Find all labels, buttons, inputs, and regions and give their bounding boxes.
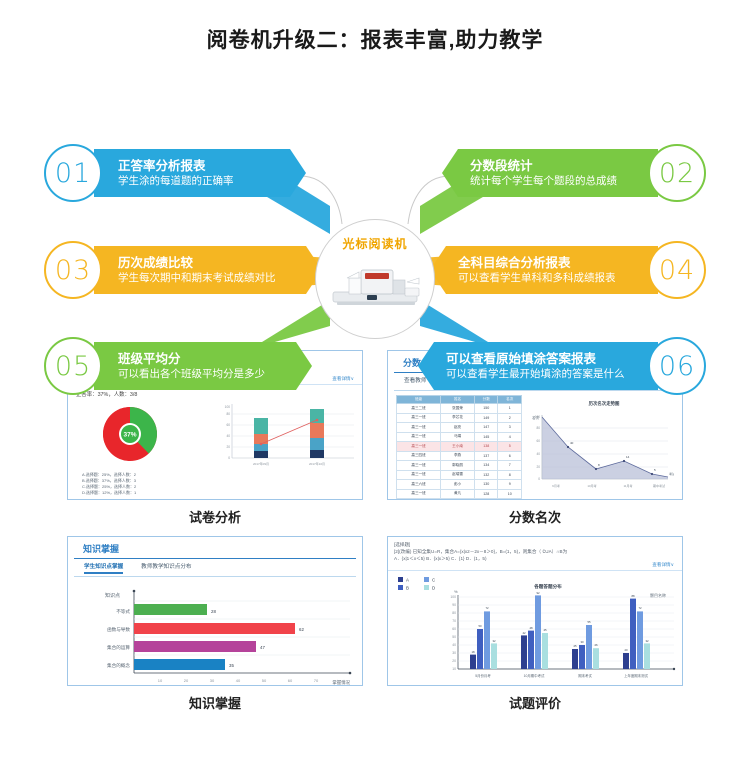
feature-number-02: 02 bbox=[648, 144, 706, 202]
feature-title-04: 全科目综合分析报表 bbox=[458, 256, 632, 271]
feature-title-06: 可以查看原始填涂答案报表 bbox=[446, 352, 632, 367]
svg-text:5: 5 bbox=[654, 468, 656, 472]
option-stat-d: D.选择题：12%，选择人数：1 bbox=[82, 490, 222, 496]
svg-text:50: 50 bbox=[262, 678, 267, 683]
item-eval-ylabel: % bbox=[454, 589, 458, 594]
option-stats-list: A.选择题：25%，选择人数：2 B.选择题：37%，选择人数：3 C.选择题：… bbox=[68, 470, 353, 496]
svg-text:30: 30 bbox=[452, 651, 456, 655]
svg-text:60: 60 bbox=[288, 678, 293, 683]
svg-text:2017年10月: 2017年10月 bbox=[309, 461, 325, 466]
svg-text:42: 42 bbox=[522, 631, 526, 635]
svg-text:48: 48 bbox=[529, 626, 533, 630]
table-row: 高三一班赵瑞雪1328 bbox=[397, 470, 522, 480]
item-eval-frame[interactable]: [选择题] [2](改编) 已知全集U=R，集合A={x|x2－2x－8＞0}，… bbox=[387, 536, 683, 686]
svg-text:50: 50 bbox=[452, 635, 456, 639]
table-row: 高三二班张国荣1501 bbox=[397, 404, 522, 414]
table-row: 高三一班郭晓丽1347 bbox=[397, 461, 522, 471]
svg-text:A: A bbox=[406, 578, 409, 583]
caption-paper-analysis: 试卷分析 bbox=[67, 500, 363, 526]
caption-knowledge: 知识掌握 bbox=[67, 686, 363, 712]
svg-text:上年度期末测试: 上年度期末测试 bbox=[624, 673, 648, 678]
scanner-machine-icon bbox=[327, 258, 423, 315]
feature-title-03: 历次成绩比较 bbox=[118, 256, 296, 271]
tab-view-teacher[interactable]: 查看教师 bbox=[404, 376, 426, 388]
item-eval-bar-chart: A C B D 各题答题分布 题目名称 % bbox=[388, 571, 683, 686]
question-line-1-b: [2](改编) 已知全集U=R，集合A={x|x2－2x－8＞0}，B=(1，5… bbox=[394, 548, 676, 555]
svg-text:50: 50 bbox=[478, 624, 482, 628]
feature-banner-03: 历次成绩比较 学生每次期中和期末考试成绩对比 bbox=[94, 246, 322, 294]
feature-banner-01: 正答率分析报表 学生涂的每道题的正确率 bbox=[94, 149, 306, 197]
svg-text:10: 10 bbox=[452, 667, 456, 671]
feature-title-05: 班级平均分 bbox=[118, 352, 286, 367]
rank-trend-chart: 历次名次走势图 名次 0 20 40 bbox=[526, 395, 674, 499]
paper-analysis-charts: 37% 0 20 bbox=[68, 398, 363, 470]
feature-number-04: 04 bbox=[648, 241, 706, 299]
svg-text:10: 10 bbox=[158, 678, 163, 683]
question-line-2-b: A．{x|1＜x＜5} B．{x|x＞5} C．{1} D．(1，5) bbox=[394, 555, 676, 562]
svg-text:集合的概念: 集合的概念 bbox=[107, 662, 130, 669]
svg-text:B: B bbox=[406, 586, 409, 591]
svg-text:32: 32 bbox=[492, 639, 496, 643]
svg-text:90: 90 bbox=[452, 603, 456, 607]
svg-text:35: 35 bbox=[229, 663, 234, 668]
feature-card-01[interactable]: 01 正答率分析报表 学生涂的每道题的正确率 bbox=[44, 144, 306, 202]
feature-banner-04: 全科目综合分析报表 可以查看学生单科和多科成绩报表 bbox=[430, 246, 658, 294]
knowledge-tabs: 学生知识点掌握 教师教学知识点分布 bbox=[74, 559, 356, 577]
svg-text:期中考试: 期中考试 bbox=[653, 483, 665, 488]
rank-chart-title: 历次名次走势图 bbox=[589, 400, 620, 407]
svg-text:60: 60 bbox=[536, 439, 540, 443]
feature-desc-04: 可以查看学生单科和多科成绩报表 bbox=[458, 271, 632, 285]
rank-chart-xlabel: 考试批次 bbox=[669, 471, 674, 476]
knowledge-title: 知识掌握 bbox=[74, 537, 356, 559]
svg-text:14: 14 bbox=[626, 455, 630, 459]
svg-text:80: 80 bbox=[536, 426, 540, 430]
bar-inequality bbox=[134, 604, 207, 615]
svg-text:20: 20 bbox=[536, 465, 540, 469]
svg-text:40: 40 bbox=[452, 643, 456, 647]
screenshots-section: [选择题] [2](改编) 已知全集U=R，集合A={x|x2－2x－8＞0}，… bbox=[0, 344, 750, 712]
table-row: 高三一班马娟1454 bbox=[397, 432, 522, 442]
feature-card-02[interactable]: 分数段统计 统计每个学生每个题段的总成绩 02 bbox=[442, 144, 706, 202]
svg-text:10月考: 10月考 bbox=[587, 483, 596, 488]
hub-label: 光标阅读机 bbox=[342, 235, 407, 252]
svg-text:60: 60 bbox=[452, 627, 456, 631]
svg-text:8: 8 bbox=[598, 463, 600, 467]
bar-set-operation bbox=[134, 641, 256, 652]
page-title: 阅卷机升级二：报表丰富,助力教学 bbox=[0, 0, 750, 56]
bar-set-concept bbox=[134, 659, 225, 670]
feature-desc-02: 统计每个学生每个题段的总成绩 bbox=[470, 174, 632, 188]
svg-text:25: 25 bbox=[573, 644, 577, 648]
screenshot-row-bottom: 知识掌握 学生知识点掌握 教师教学知识点分布 知识点 bbox=[0, 536, 750, 712]
svg-text:88: 88 bbox=[631, 594, 635, 598]
table-header-row: 班级 姓名 分数 名次 bbox=[397, 396, 522, 404]
feature-number-06: 06 bbox=[648, 337, 706, 395]
feature-card-06[interactable]: 可以查看原始填涂答案报表 可以查看学生最开始填涂的答案是什么 06 bbox=[418, 337, 706, 395]
svg-text:30: 30 bbox=[580, 640, 584, 644]
svg-text:45: 45 bbox=[543, 628, 547, 632]
table-row: 高三一班王小南1385 bbox=[397, 442, 522, 452]
col-rank: 名次 bbox=[498, 396, 522, 404]
svg-text:55: 55 bbox=[587, 620, 591, 624]
svg-text:5月份月考: 5月份月考 bbox=[475, 673, 491, 678]
tab-student-knowledge[interactable]: 学生知识点掌握 bbox=[84, 562, 123, 574]
donut-center-label: 37% bbox=[123, 432, 136, 439]
feature-number-05: 05 bbox=[44, 337, 102, 395]
feature-banner-06: 可以查看原始填涂答案报表 可以查看学生最开始填涂的答案是什么 bbox=[418, 342, 658, 390]
svg-text:40: 40 bbox=[536, 452, 540, 456]
knowledge-frame[interactable]: 知识掌握 学生知识点掌握 教师教学知识点分布 知识点 bbox=[67, 536, 363, 686]
knowledge-xlabel: 掌握情况 bbox=[332, 679, 350, 686]
table-row: 高三六班彭小1309 bbox=[397, 480, 522, 490]
feature-number-01: 01 bbox=[44, 144, 102, 202]
svg-text:0: 0 bbox=[228, 456, 230, 460]
svg-text:40: 40 bbox=[570, 441, 574, 445]
caption-item-eval: 试题评价 bbox=[387, 686, 683, 712]
svg-text:28: 28 bbox=[211, 609, 216, 614]
table-row: 高三一班李芯花1492 bbox=[397, 413, 522, 423]
bar-group-1: 1850 7232 5月份月考 bbox=[470, 606, 497, 678]
svg-text:40: 40 bbox=[226, 434, 230, 438]
knowledge-ylabel: 知识点 bbox=[105, 592, 120, 599]
col-name: 姓名 bbox=[441, 396, 475, 404]
bar-group-2: 4248 9245 10月期中考试 bbox=[521, 591, 548, 678]
feature-title-02: 分数段统计 bbox=[470, 159, 632, 174]
svg-text:期末考试: 期末考试 bbox=[578, 673, 592, 678]
feature-desc-05: 可以看出各个班级平均分是多少 bbox=[118, 367, 286, 381]
table-row: 高三四班李燕1376 bbox=[397, 451, 522, 461]
feature-desc-06: 可以查看学生最开始填涂的答案是什么 bbox=[446, 367, 632, 381]
hero-diagram: 01 正答率分析报表 学生涂的每道题的正确率 分数段统计 统计每个学生每个题段的… bbox=[0, 56, 750, 344]
col-class: 班级 bbox=[397, 396, 441, 404]
item-eval-chart-title: 各题答题分布 bbox=[533, 583, 562, 590]
score-rank-table: 班级 姓名 分数 名次 高三二班张国荣1501 高三一班李芯花1492 高三一班… bbox=[396, 395, 522, 499]
item-eval-question-header: [选择题] [2](改编) 已知全集U=R，集合A={x|x2－2x－8＞0}，… bbox=[388, 537, 682, 571]
svg-text:60: 60 bbox=[226, 423, 230, 427]
feature-desc-03: 学生每次期中和期末考试成绩对比 bbox=[118, 271, 296, 285]
svg-text:20: 20 bbox=[452, 659, 456, 663]
svg-text:0: 0 bbox=[538, 477, 540, 481]
svg-text:20: 20 bbox=[184, 678, 189, 683]
svg-text:26: 26 bbox=[594, 643, 598, 647]
shot-knowledge: 知识掌握 学生知识点掌握 教师教学知识点分布 知识点 bbox=[67, 536, 363, 712]
feature-card-04[interactable]: 全科目综合分析报表 可以查看学生单科和多科成绩报表 04 bbox=[430, 241, 706, 299]
table-row: 高三一班赵亮1473 bbox=[397, 423, 522, 433]
feature-banner-02: 分数段统计 统计每个学生每个题段的总成绩 bbox=[442, 149, 658, 197]
feature-number-03: 03 bbox=[44, 241, 102, 299]
tab-teacher-knowledge[interactable]: 教师教学知识点分布 bbox=[141, 562, 191, 574]
svg-text:100: 100 bbox=[450, 595, 456, 599]
table-row: 高三一班黄凡12810 bbox=[397, 489, 522, 499]
donut-chart: 37% bbox=[103, 407, 157, 461]
svg-text:32: 32 bbox=[645, 639, 649, 643]
svg-text:20: 20 bbox=[624, 648, 628, 652]
svg-text:D: D bbox=[432, 586, 435, 591]
svg-text:92: 92 bbox=[536, 591, 540, 595]
svg-text:62: 62 bbox=[299, 627, 304, 632]
feature-card-03[interactable]: 03 历次成绩比较 学生每次期中和期末考试成绩对比 bbox=[44, 241, 322, 299]
svg-text:40: 40 bbox=[236, 678, 241, 683]
svg-text:72: 72 bbox=[485, 606, 489, 610]
svg-text:9月考: 9月考 bbox=[552, 483, 560, 488]
svg-text:20: 20 bbox=[226, 445, 230, 449]
svg-text:不等式: 不等式 bbox=[116, 608, 130, 615]
svg-text:11月考: 11月考 bbox=[623, 483, 632, 488]
svg-text:100: 100 bbox=[225, 405, 231, 409]
svg-text:70: 70 bbox=[314, 678, 319, 683]
svg-text:47: 47 bbox=[260, 645, 265, 650]
svg-text:80: 80 bbox=[226, 412, 230, 416]
svg-text:70: 70 bbox=[452, 619, 456, 623]
caption-score-rank: 分数名次 bbox=[387, 500, 683, 526]
knowledge-bar-chart: 知识点 bbox=[68, 577, 363, 686]
view-detail-link-2[interactable]: 查看详情∨ bbox=[394, 562, 676, 568]
svg-text:10月期中考试: 10月期中考试 bbox=[524, 673, 545, 678]
svg-text:100: 100 bbox=[535, 415, 541, 419]
svg-text:30: 30 bbox=[210, 678, 215, 683]
question-tag-2: [选择题] bbox=[394, 541, 676, 548]
bar-group-4: 2088 7232 上年度期末测试 bbox=[623, 594, 650, 678]
shot-item-eval: [选择题] [2](改编) 已知全集U=R，集合A={x|x2－2x－8＞0}，… bbox=[387, 536, 683, 712]
svg-text:C: C bbox=[432, 578, 435, 583]
svg-text:18: 18 bbox=[471, 650, 475, 654]
hub-circle: 光标阅读机 bbox=[315, 219, 435, 339]
feature-desc-01: 学生涂的每道题的正确率 bbox=[118, 174, 280, 188]
feature-card-05[interactable]: 05 班级平均分 可以看出各个班级平均分是多少 bbox=[44, 337, 312, 395]
feature-banner-05: 班级平均分 可以看出各个班级平均分是多少 bbox=[94, 342, 312, 390]
stacked-bar-chart: 0 20 40 60 80 100 bbox=[225, 404, 354, 466]
feature-title-01: 正答率分析报表 bbox=[118, 159, 280, 174]
col-score: 分数 bbox=[474, 396, 498, 404]
svg-text:集合的运算: 集合的运算 bbox=[107, 644, 130, 651]
svg-text:函数与导数: 函数与导数 bbox=[107, 626, 130, 633]
item-eval-legend: A C B D bbox=[398, 577, 435, 591]
svg-text:72: 72 bbox=[638, 606, 642, 610]
svg-text:2017年09月: 2017年09月 bbox=[253, 461, 269, 466]
svg-text:80: 80 bbox=[452, 611, 456, 615]
bar-function-derivative bbox=[134, 623, 295, 634]
